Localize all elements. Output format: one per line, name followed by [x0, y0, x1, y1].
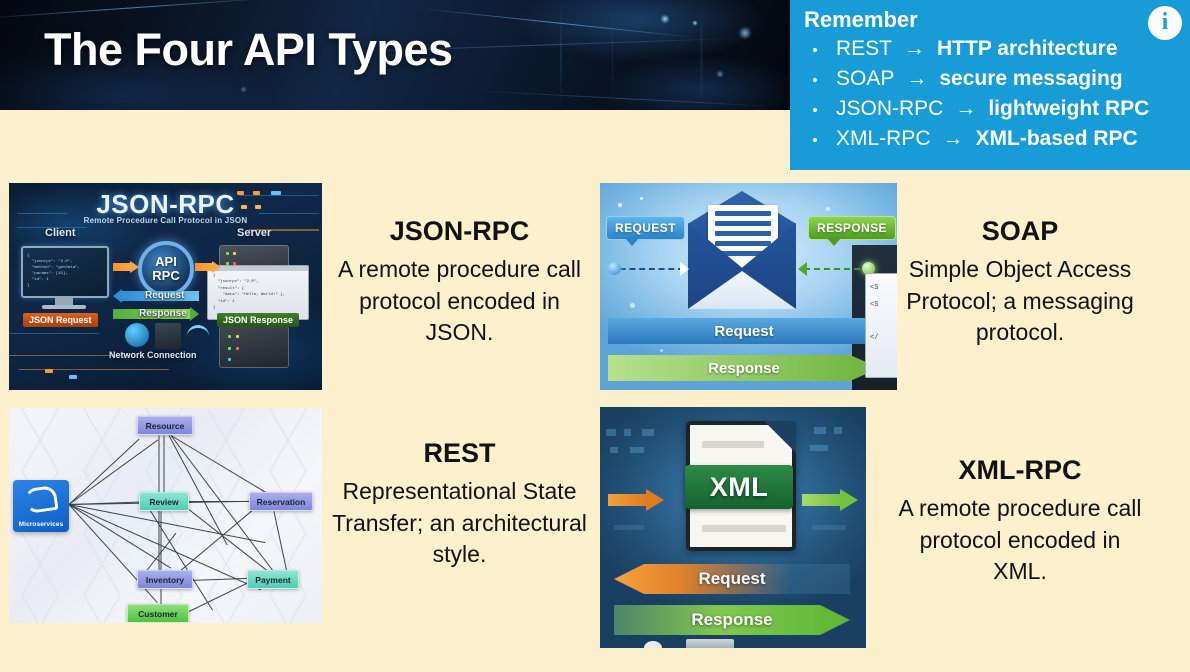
sparkle [826, 207, 830, 211]
info-icon: i [1148, 6, 1182, 40]
server-led [228, 358, 231, 361]
banner-streak [470, 90, 790, 108]
sparkle [618, 203, 622, 207]
title-banner: The Four API Types [0, 0, 790, 110]
arrow-gear-to-server [195, 261, 221, 273]
gear-label-api: API [155, 255, 177, 269]
microservices-logo-label: Microservices [19, 521, 64, 528]
jsonrpc-response-label: Response [139, 308, 187, 319]
soap-request-bar: Request [608, 318, 880, 344]
banner-dot [660, 14, 670, 24]
gear-label-rpc: RPC [152, 269, 179, 283]
banner-vbar [700, 0, 703, 110]
pixel-block [610, 447, 618, 453]
badge-request: REQUEST [606, 216, 685, 240]
entry-jsonrpc-description: A remote procedure call protocol encoded… [332, 254, 587, 349]
connector-line [189, 501, 251, 502]
arrow-shaft [113, 263, 130, 271]
remember-callout: Remember • REST → HTTP architecture • SO… [790, 0, 1190, 170]
badge-tail [827, 238, 841, 246]
document-fold [764, 421, 796, 453]
arrow-head [190, 307, 199, 321]
badge-json-response: JSON Response [217, 313, 299, 327]
server-led [226, 252, 229, 255]
connector-line [164, 436, 165, 494]
remember-item-xmlrpc: • XML-RPC → XML-based RPC [804, 124, 1180, 154]
banner-dot [240, 86, 247, 93]
jsonrpc-server-rack-lower [219, 326, 289, 368]
banner-vbar [560, 0, 562, 110]
remember-term: SOAP [836, 64, 894, 94]
arrow-head [113, 289, 122, 303]
arrow-icon: → [941, 124, 966, 154]
image-xmlrpc-diagram: XML Request Response [600, 407, 866, 648]
jsonrpc-request-label: Request [145, 290, 184, 301]
remember-term: REST [836, 34, 892, 64]
remember-detail: secure messaging [939, 64, 1122, 94]
letter-line [715, 231, 771, 236]
entry-rest-heading: REST [332, 438, 587, 469]
entry-soap-heading: SOAP [895, 216, 1145, 247]
node-customer: Customer [127, 604, 189, 623]
slide-canvas: The Four API Types Remember • REST → HTT… [0, 0, 1190, 672]
remember-detail: XML-based RPC [976, 124, 1138, 154]
xmlrpc-response-bar: Response [614, 605, 850, 635]
arrow-shaft [195, 263, 212, 271]
node-inventory: Inventory [137, 570, 193, 589]
arrowhead-response [798, 262, 807, 276]
server-led [233, 252, 236, 255]
jsonrpc-client-label: Client [45, 227, 76, 239]
entry-soap-description: Simple Object Access Protocol; a messagi… [895, 254, 1145, 349]
globe-icon [125, 323, 149, 347]
badge-tail [625, 238, 639, 246]
badge-response: RESPONSE [808, 216, 896, 240]
pixel-block [810, 445, 828, 451]
bullet-icon: • [804, 100, 826, 121]
pixel-block [630, 447, 644, 453]
sparkle [630, 303, 635, 308]
xmlrpc-request-bar: Request [614, 564, 850, 594]
image-rest-diagram: Microservices Resource Review Reservatio… [9, 408, 322, 623]
jsonrpc-network-label: Network Connection [109, 350, 197, 360]
remember-item-soap: • SOAP → secure messaging [804, 64, 1180, 94]
arrow-client-to-gear [113, 261, 139, 273]
soap-response-bar: Response [608, 355, 880, 381]
circuit-trace [9, 333, 99, 334]
xml-document-icon: XML [686, 421, 796, 551]
pixel-block [834, 427, 842, 434]
entry-xmlrpc-heading: XML-RPC [895, 455, 1145, 486]
jsonrpc-client-monitor: { "jsonrpc": "2.0", "method": "getData",… [21, 246, 109, 298]
banner-vbar [612, 0, 613, 110]
node-resource: Resource [137, 416, 193, 435]
jsonrpc-server-code: { "jsonrpc": "2.0", "result": { "data": … [213, 274, 285, 310]
arrow-icon: → [902, 34, 927, 64]
pixel-block [624, 429, 631, 436]
banner-streak [0, 0, 279, 19]
circuit-chip [45, 369, 53, 373]
arrow-head [212, 261, 221, 273]
entry-rest-description: Representational State Transfer; an arch… [332, 476, 587, 571]
banner-dot [738, 26, 752, 40]
pixel-block [642, 429, 654, 436]
wifi-icon [187, 325, 209, 345]
arrow-icon: → [953, 94, 978, 124]
entry-soap-text: SOAP Simple Object Access Protocol; a me… [895, 216, 1145, 349]
banner-dot [716, 70, 724, 78]
pixel-block [614, 525, 644, 530]
jsonrpc-image-subtitle: Remote Procedure Call Protocol in JSON [9, 216, 322, 225]
server-led [236, 335, 239, 338]
remember-item-rest: • REST → HTTP architecture [804, 34, 1180, 64]
info-icon-glyph: i [1162, 10, 1169, 34]
arrow-icon: → [904, 64, 929, 94]
remember-item-jsonrpc: • JSON-RPC → lightweight RPC [804, 94, 1180, 124]
remember-detail: lightweight RPC [988, 94, 1149, 124]
sparkle [660, 349, 663, 352]
arrow-head [840, 489, 858, 511]
server-led [236, 347, 239, 350]
xml-badge: XML [685, 465, 793, 509]
entry-xmlrpc-description: A remote procedure call protocol encoded… [895, 493, 1145, 588]
remember-term: JSON-RPC [836, 94, 943, 124]
microservices-mark-icon [23, 485, 58, 514]
server-stack-icon [155, 323, 181, 349]
mouse-icon [644, 641, 662, 648]
sparkle [640, 197, 643, 200]
banner-dot [692, 20, 698, 26]
dashed-line-response [804, 268, 870, 270]
bullet-icon: • [804, 70, 826, 91]
remember-list: • REST → HTTP architecture • SOAP → secu… [804, 34, 1180, 153]
arrow-out-right [802, 489, 860, 511]
arrow-shaft [608, 494, 648, 506]
panel-titlebar [208, 266, 308, 271]
node-review: Review [139, 492, 189, 511]
device-icon [686, 639, 734, 648]
entry-xmlrpc-text: XML-RPC A remote procedure call protocol… [895, 455, 1145, 588]
arrowhead-request [680, 262, 689, 276]
node-payment: Payment [247, 570, 299, 589]
jsonrpc-server-label: Server [237, 227, 271, 239]
image-soap-diagram: REQUEST RESPONSE Request Response <S <S … [600, 183, 897, 390]
bullet-icon: • [804, 130, 826, 151]
jsonrpc-server-code-panel: { "jsonrpc": "2.0", "result": { "data": … [207, 265, 309, 320]
pixel-block [606, 429, 616, 436]
pixel-block [814, 427, 826, 434]
badge-json-request: JSON Request [23, 313, 98, 327]
pixel-block [812, 525, 846, 530]
entry-jsonrpc-text: JSON-RPC A remote procedure call protoco… [332, 216, 587, 349]
soap-xml-panel: <S <S </ [865, 273, 897, 378]
page-title: The Four API Types [44, 24, 453, 76]
endpoint-node-request [608, 262, 621, 275]
document-line [702, 441, 764, 448]
arrow-in-left [608, 489, 662, 511]
letter-line [715, 221, 771, 226]
bullet-icon: • [804, 40, 826, 61]
letter-line [715, 241, 771, 246]
remember-detail: HTTP architecture [937, 34, 1118, 64]
arrow-head [130, 261, 139, 273]
circuit-chip [69, 375, 77, 379]
node-reservation: Reservation [249, 492, 313, 511]
document-line [702, 525, 786, 532]
server-led [228, 347, 231, 350]
arrow-head [646, 489, 664, 511]
circuit-trace [19, 369, 169, 370]
letter-line [715, 211, 771, 216]
dashed-line-request [610, 268, 684, 270]
arrow-shaft [802, 494, 842, 506]
entry-jsonrpc-heading: JSON-RPC [332, 216, 587, 247]
monitor-base [42, 305, 86, 309]
entry-rest-text: REST Representational State Transfer; an… [332, 438, 587, 571]
microservices-logo: Microservices [13, 480, 69, 532]
remember-heading: Remember [804, 8, 1180, 32]
server-led [228, 335, 231, 338]
remember-term: XML-RPC [836, 124, 931, 154]
jsonrpc-client-code: { "jsonrpc": "2.0", "method": "getData",… [27, 253, 80, 289]
image-jsonrpc-diagram: JSON-RPC Remote Procedure Call Protocol … [9, 183, 322, 390]
